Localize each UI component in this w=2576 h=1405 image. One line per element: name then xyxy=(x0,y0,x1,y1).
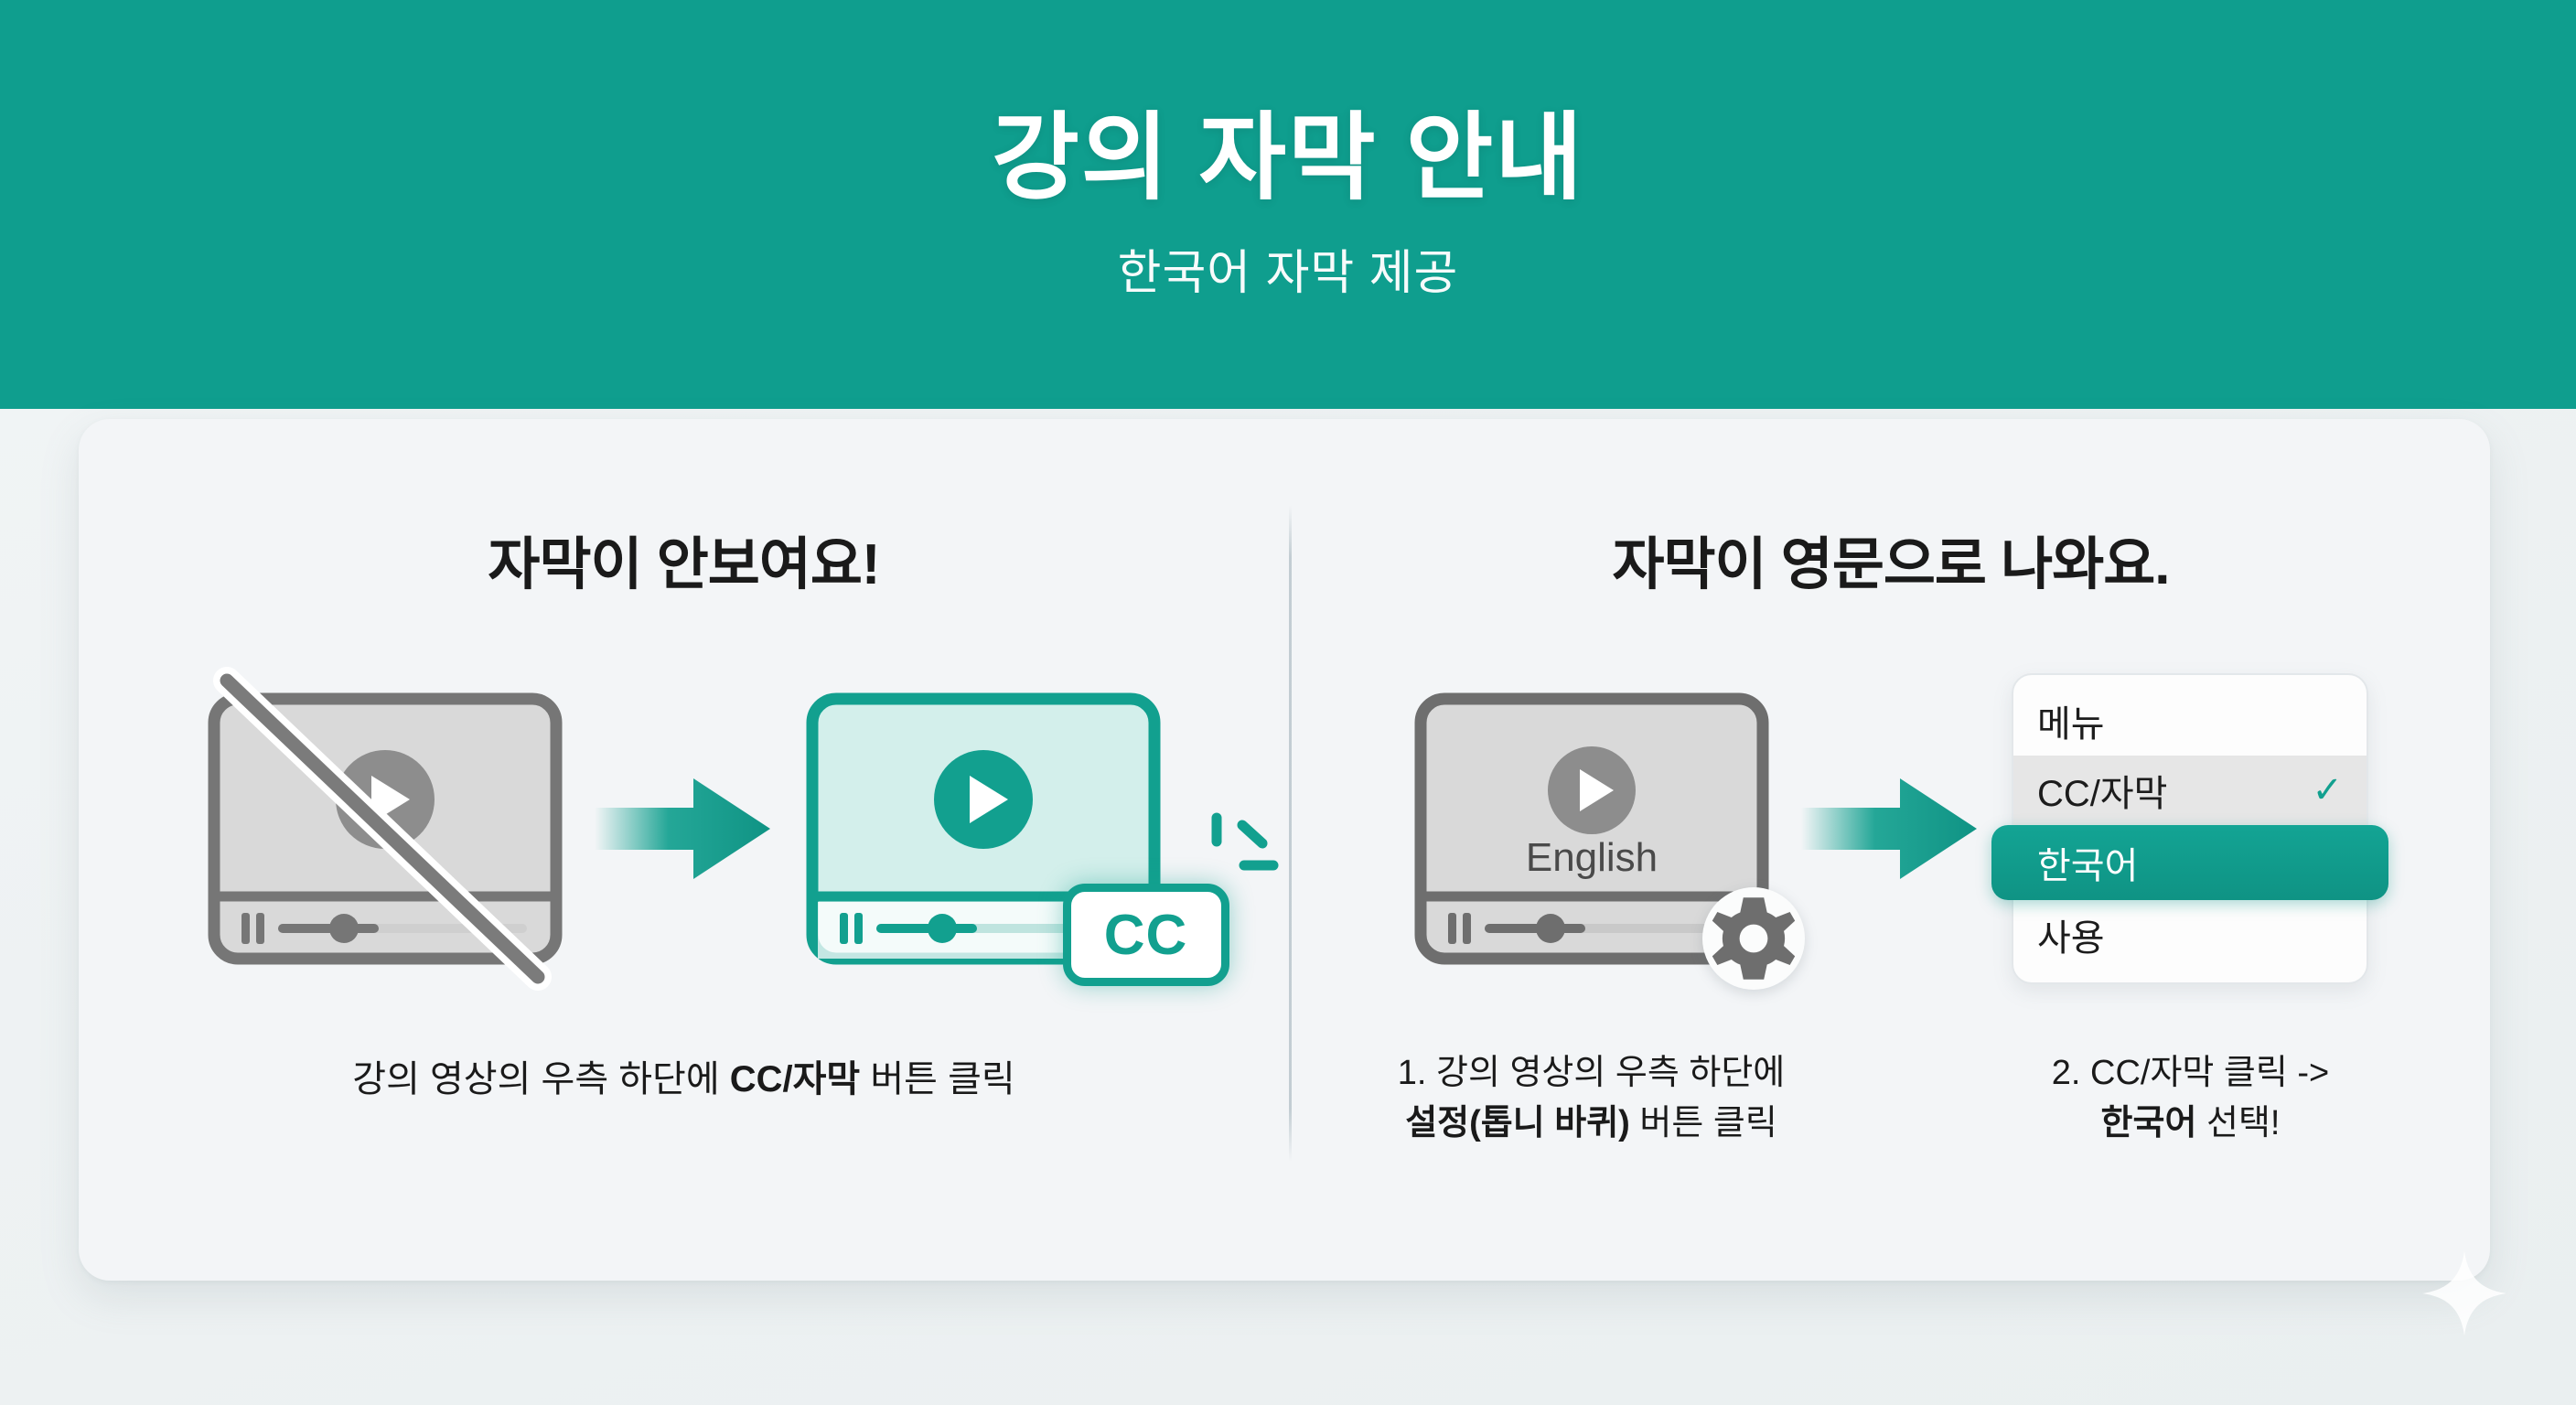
caption-left-bold: CC/자막 xyxy=(730,1059,861,1099)
caption-step-1-line2: 설정(톱니 바퀴) 버튼 클릭 xyxy=(1292,1099,1891,1149)
illustration-row-right: English xyxy=(1292,646,2490,1012)
menu-item-use[interactable]: 사용 xyxy=(2013,900,2367,970)
caption-step-2-line2: 한국어 선택! xyxy=(1891,1099,2490,1149)
caption-step-2-rest: 선택! xyxy=(2196,1104,2280,1142)
check-icon: ✓ xyxy=(2312,772,2343,809)
panel-heading-left: 자막이 안보여요! xyxy=(488,518,879,600)
menu-item-korean[interactable]: 한국어 xyxy=(1991,825,2388,900)
panel-heading-right: 자막이 영문으로 나와요. xyxy=(1612,518,2169,600)
caption-step-2: 2. CC/자막 클릭 -> 한국어 선택! xyxy=(1891,1048,2490,1149)
caption-step-1-line1: 1. 강의 영상의 우측 하단에 xyxy=(1292,1048,1891,1099)
caption-row-right: 1. 강의 영상의 우측 하단에 설정(톱니 바퀴) 버튼 클릭 2. CC/자… xyxy=(1292,1048,2490,1149)
settings-gear-badge[interactable] xyxy=(1702,887,1805,990)
cc-sparkle-icon xyxy=(1202,812,1279,889)
caption-left-prefix: 강의 영상의 우측 하단에 xyxy=(352,1059,729,1099)
caption-step-1: 1. 강의 영상의 우측 하단에 설정(톱니 바퀴) 버튼 클릭 xyxy=(1292,1048,1891,1149)
caption-step-1-rest: 버튼 클릭 xyxy=(1630,1104,1777,1142)
video-player-captions-on[interactable]: CC xyxy=(805,692,1162,966)
menu-item-label: 한국어 xyxy=(2037,836,2343,889)
menu-title-label: 메뉴 xyxy=(2037,694,2343,747)
video-player-english[interactable]: English xyxy=(1413,692,1770,966)
menu-item-label: CC/자막 xyxy=(2037,764,2312,817)
page-header: 강의 자막 안내 한국어 자막 제공 xyxy=(0,0,2576,409)
caption-step-1-bold: 설정(톱니 바퀴) xyxy=(1405,1104,1630,1142)
page-title: 강의 자막 안내 xyxy=(992,106,1584,210)
caption-left: 강의 영상의 우측 하단에 CC/자막 버튼 클릭 xyxy=(352,1054,1014,1106)
arrow-right-icon xyxy=(595,773,774,885)
video-player-disabled[interactable] xyxy=(207,692,563,966)
panel-english-subtitles: 자막이 영문으로 나와요. English xyxy=(1292,419,2490,1281)
menu-item-cc-subtitles[interactable]: CC/자막 ✓ xyxy=(2013,756,2367,825)
panel-no-subtitles: 자막이 안보여요! xyxy=(79,419,1289,1281)
illustration-row-left: CC xyxy=(79,646,1289,1012)
subtitle-settings-menu[interactable]: 메뉴 CC/자막 ✓ 한국어 사용 xyxy=(2012,673,2368,984)
menu-item-label: 사용 xyxy=(2037,908,2343,961)
page-subtitle: 한국어 자막 제공 xyxy=(1118,234,1459,303)
caption-left-suffix: 버튼 클릭 xyxy=(860,1059,1014,1099)
cc-subtitle-badge[interactable]: CC xyxy=(1063,884,1229,986)
menu-row-title: 메뉴 xyxy=(2013,686,2367,756)
gear-icon xyxy=(1702,887,1805,990)
arrow-right-icon xyxy=(1801,773,1980,885)
caption-step-2-bold: 한국어 xyxy=(2101,1104,2197,1142)
caption-step-2-line1: 2. CC/자막 클릭 -> xyxy=(1891,1048,2490,1099)
cc-badge-label: CC xyxy=(1104,903,1188,968)
player-screen-label: English xyxy=(1526,835,1658,880)
